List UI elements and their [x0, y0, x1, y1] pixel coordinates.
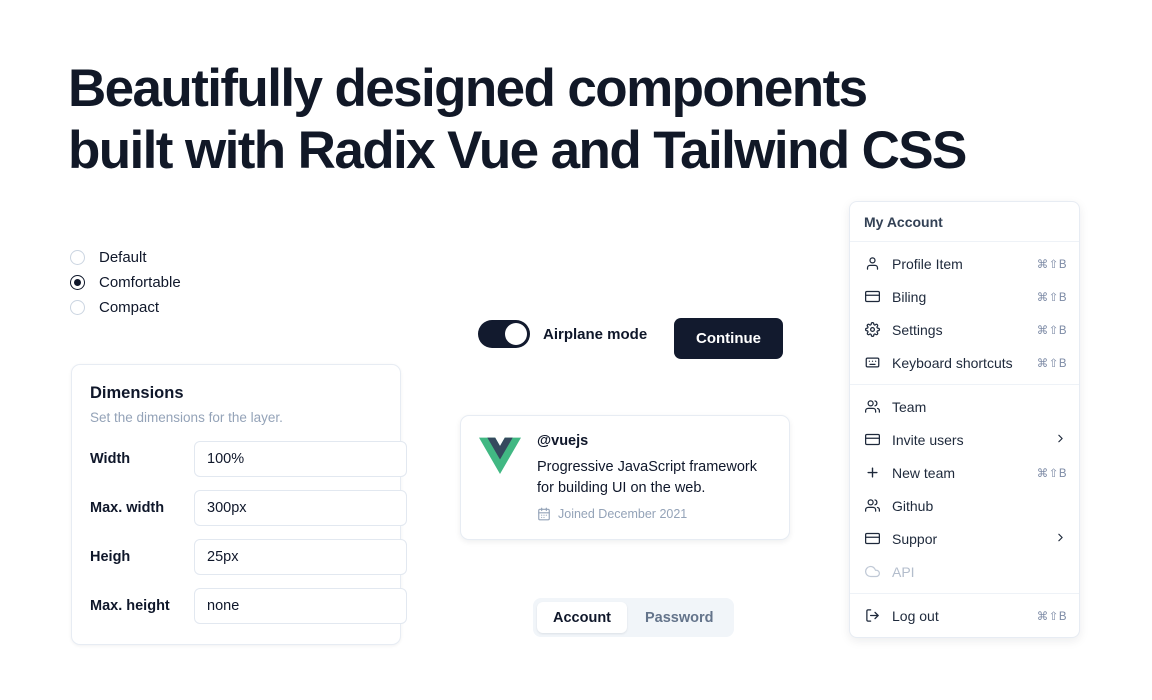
radio-label-compact: Compact — [99, 300, 159, 315]
menu-item-invite-users[interactable]: Invite users — [850, 423, 1079, 456]
input-max-height[interactable] — [194, 588, 407, 624]
credit-card-icon — [864, 288, 881, 305]
menu-item-profile[interactable]: Profile Item ⌘⇧B — [850, 247, 1079, 280]
density-radio-group: Default Comfortable Compact — [70, 245, 320, 320]
menu-item-log-out[interactable]: Log out ⌘⇧B — [850, 599, 1079, 632]
radio-label-comfortable: Comfortable — [99, 275, 181, 290]
switch-knob — [505, 323, 527, 345]
menu-item-label: Team — [892, 399, 1067, 415]
menu-item-team[interactable]: Team — [850, 390, 1079, 423]
label-width: Width — [90, 451, 194, 467]
gear-icon — [864, 321, 881, 338]
dimensions-row-height: Heigh — [90, 539, 382, 575]
airplane-mode-row: Airplane mode — [478, 320, 647, 348]
radio-label-default: Default — [99, 250, 147, 265]
airplane-mode-switch[interactable] — [478, 320, 530, 348]
menu-item-label: New team — [892, 465, 1037, 481]
radio-indicator-default[interactable] — [70, 250, 85, 265]
menu-item-label: Log out — [892, 608, 1037, 624]
vue-joined-row: Joined December 2021 — [537, 507, 771, 521]
menu-item-github[interactable]: Github — [850, 489, 1079, 522]
vue-hover-card-body: @vuejs Progressive JavaScript framework … — [537, 433, 771, 521]
airplane-mode-label: Airplane mode — [543, 326, 647, 343]
input-height[interactable] — [194, 539, 407, 575]
dimensions-subtitle: Set the dimensions for the layer. — [90, 410, 382, 425]
tab-account[interactable]: Account — [537, 602, 627, 633]
credit-card-icon — [864, 530, 881, 547]
menu-item-label: Invite users — [892, 432, 1054, 448]
menu-item-label: Settings — [892, 322, 1037, 338]
dimensions-row-width: Width — [90, 441, 382, 477]
menu-item-billing[interactable]: Biling ⌘⇧B — [850, 280, 1079, 313]
menu-item-settings[interactable]: Settings ⌘⇧B — [850, 313, 1079, 346]
menu-item-shortcut: ⌘⇧B — [1037, 290, 1067, 304]
menu-group-session: Log out ⌘⇧B — [850, 594, 1079, 637]
menu-item-shortcut: ⌘⇧B — [1037, 356, 1067, 370]
vue-logo-icon — [479, 437, 521, 475]
radio-option-comfortable[interactable]: Comfortable — [70, 270, 320, 295]
menu-item-shortcut: ⌘⇧B — [1037, 257, 1067, 271]
log-out-icon — [864, 607, 881, 624]
menu-item-new-team[interactable]: New team ⌘⇧B — [850, 456, 1079, 489]
dimensions-title: Dimensions — [90, 384, 382, 403]
dimensions-card: Dimensions Set the dimensions for the la… — [71, 364, 401, 645]
dimensions-row-max-width: Max. width — [90, 490, 382, 526]
continue-button[interactable]: Continue — [674, 318, 783, 359]
radio-option-default[interactable]: Default — [70, 245, 320, 270]
menu-item-shortcut: ⌘⇧B — [1037, 466, 1067, 480]
radio-option-compact[interactable]: Compact — [70, 295, 320, 320]
label-max-height: Max. height — [90, 598, 194, 614]
label-height: Heigh — [90, 549, 194, 565]
page-title: Beautifully designed components built wi… — [68, 58, 1028, 182]
tab-password[interactable]: Password — [629, 602, 730, 633]
menu-group-account: Profile Item ⌘⇧B Biling ⌘⇧B Settings ⌘⇧B — [850, 242, 1079, 384]
page-title-line-2: built with Radix Vue and Tailwind CSS — [68, 120, 1028, 182]
menu-item-support[interactable]: Suppor — [850, 522, 1079, 555]
menu-item-label: Biling — [892, 289, 1037, 305]
radio-indicator-comfortable[interactable] — [70, 275, 85, 290]
dimensions-row-max-height: Max. height — [90, 588, 382, 624]
chevron-right-icon — [1054, 531, 1067, 546]
label-max-width: Max. width — [90, 500, 194, 516]
page-title-line-1: Beautifully designed components — [68, 58, 1028, 120]
settings-tabs: Account Password — [533, 598, 734, 637]
menu-item-api: API — [850, 555, 1079, 588]
vue-joined-text: Joined December 2021 — [558, 507, 687, 521]
menu-header: My Account — [850, 202, 1079, 241]
radio-indicator-compact[interactable] — [70, 300, 85, 315]
vue-handle: @vuejs — [537, 433, 771, 449]
keyboard-icon — [864, 354, 881, 371]
users-icon — [864, 497, 881, 514]
vue-description: Progressive JavaScript framework for bui… — [537, 457, 771, 499]
plus-icon — [864, 464, 881, 481]
vue-hover-card: @vuejs Progressive JavaScript framework … — [460, 415, 790, 540]
account-dropdown-menu: My Account Profile Item ⌘⇧B Biling ⌘⇧B — [849, 201, 1080, 638]
user-icon — [864, 255, 881, 272]
menu-item-shortcut: ⌘⇧B — [1037, 323, 1067, 337]
chevron-right-icon — [1054, 432, 1067, 447]
menu-item-shortcut: ⌘⇧B — [1037, 609, 1067, 623]
menu-item-label: Suppor — [892, 531, 1054, 547]
credit-card-icon — [864, 431, 881, 448]
menu-item-label: Profile Item — [892, 256, 1037, 272]
calendar-icon — [537, 507, 551, 521]
users-icon — [864, 398, 881, 415]
menu-item-label: Keyboard shortcuts — [892, 355, 1037, 371]
menu-item-label: API — [892, 564, 1067, 580]
input-max-width[interactable] — [194, 490, 407, 526]
menu-item-keyboard-shortcuts[interactable]: Keyboard shortcuts ⌘⇧B — [850, 346, 1079, 379]
menu-item-label: Github — [892, 498, 1067, 514]
input-width[interactable] — [194, 441, 407, 477]
cloud-icon — [864, 563, 881, 580]
menu-group-team: Team Invite users New team ⌘⇧B — [850, 385, 1079, 593]
